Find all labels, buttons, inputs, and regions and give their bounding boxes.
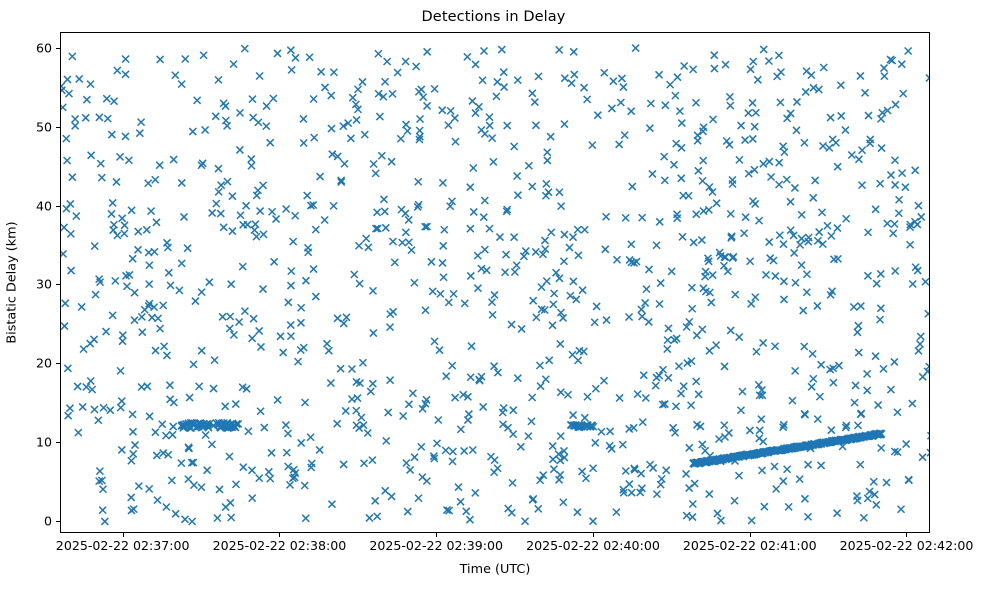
x-axis-label: Time (UTC) xyxy=(60,562,930,577)
chart-title: Detections in Delay xyxy=(0,9,987,25)
x-tick-mark xyxy=(750,533,751,537)
plot-area xyxy=(60,32,930,533)
x-tick-mark xyxy=(279,533,280,537)
x-tick-label: 2025-02-22 02:38:00 xyxy=(213,538,347,553)
y-axis-label-container: Bistatic Delay (km) xyxy=(0,0,20,590)
y-tick-mark xyxy=(56,206,60,207)
y-tick-mark xyxy=(56,442,60,443)
y-tick-mark xyxy=(56,521,60,522)
x-tick-mark xyxy=(123,533,124,537)
x-tick-label: 2025-02-22 02:39:00 xyxy=(369,538,503,553)
y-tick-label: 20 xyxy=(8,356,52,371)
y-tick-mark xyxy=(56,363,60,364)
y-tick-label: 0 xyxy=(8,514,52,529)
y-tick-mark xyxy=(56,48,60,49)
x-tick-label: 2025-02-22 02:40:00 xyxy=(526,538,660,553)
y-tick-mark xyxy=(56,127,60,128)
y-tick-label: 60 xyxy=(8,40,52,55)
y-tick-label: 10 xyxy=(8,435,52,450)
x-tick-label: 2025-02-22 02:41:00 xyxy=(683,538,817,553)
y-tick-label: 50 xyxy=(8,119,52,134)
y-tick-mark xyxy=(56,284,60,285)
x-tick-mark xyxy=(906,533,907,537)
x-tick-mark xyxy=(436,533,437,537)
x-tick-mark xyxy=(593,533,594,537)
x-tick-label: 2025-02-22 02:37:00 xyxy=(56,538,190,553)
scatter-points-layer xyxy=(61,33,930,533)
x-tick-label: 2025-02-22 02:42:00 xyxy=(840,538,974,553)
y-tick-label: 40 xyxy=(8,198,52,213)
figure-canvas: Detections in Delay Bistatic Delay (km) … xyxy=(0,0,987,590)
y-tick-label: 30 xyxy=(8,277,52,292)
